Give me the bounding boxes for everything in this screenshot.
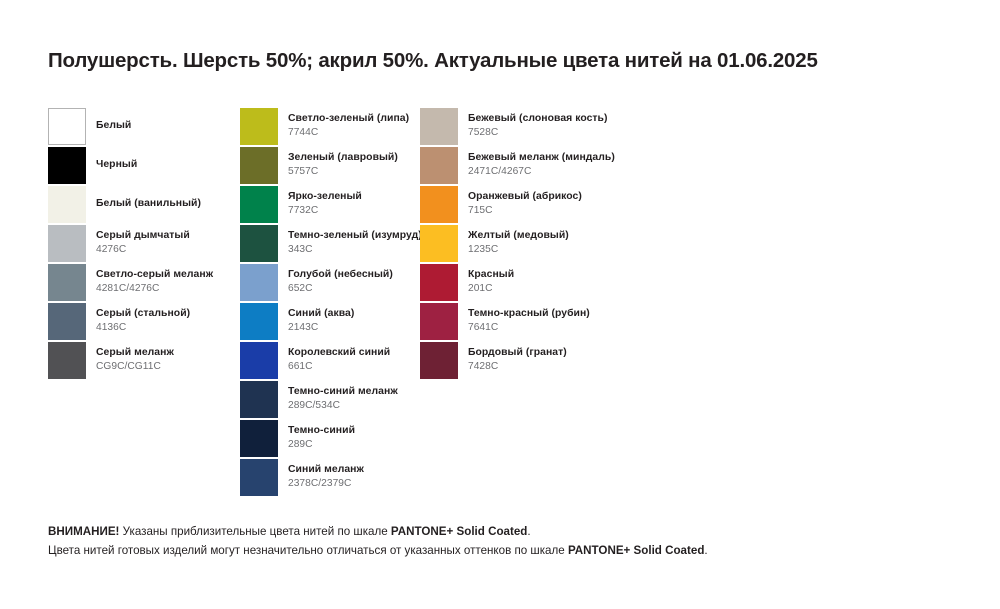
color-swatch-row: Белый (ванильный) — [48, 186, 238, 225]
color-name: Бежевый (слоновая кость) — [468, 113, 608, 126]
color-swatch-row: Оранжевый (абрикос)715C — [420, 186, 650, 225]
color-swatch-row: Темно-красный (рубин)7641C — [420, 303, 650, 342]
swatch-labels: Красный201C — [468, 264, 514, 301]
color-swatch-row: Красный201C — [420, 264, 650, 303]
swatch-labels: Зеленый (лавровый)5757C — [288, 147, 398, 184]
pantone-code: 7528C — [468, 127, 608, 139]
footer-line-2-text: Цвета нитей готовых изделий могут незнач… — [48, 544, 568, 557]
swatch-labels: Серый (стальной)4136C — [96, 303, 190, 340]
swatch-column-neutrals: БелыйЧерныйБелый (ванильный)Серый дымчат… — [48, 108, 238, 381]
color-swatch — [420, 186, 458, 223]
footer-brand-1: PANTONE+ Solid Coated — [391, 525, 527, 538]
swatch-labels: Ярко-зеленый7732C — [288, 186, 362, 223]
swatch-column-warm: Бежевый (слоновая кость)7528CБежевый мел… — [420, 108, 650, 381]
color-swatch — [48, 342, 86, 379]
color-swatch-row: Зеленый (лавровый)5757C — [240, 147, 420, 186]
color-name: Светло-зеленый (липа) — [288, 113, 409, 126]
footer-attention-label: ВНИМАНИЕ! — [48, 525, 119, 538]
color-name: Темно-синий меланж — [288, 386, 398, 399]
pantone-code: 7428C — [468, 361, 567, 373]
color-swatch-row: Королевский синий661C — [240, 342, 420, 381]
color-swatch-row: Темно-синий меланж289C/534C — [240, 381, 420, 420]
footer-line-2: Цвета нитей готовых изделий могут незнач… — [48, 542, 948, 561]
swatch-column-greens-blues: Светло-зеленый (липа)7744CЗеленый (лавро… — [240, 108, 420, 498]
swatch-labels: Светло-серый меланж4281C/4276C — [96, 264, 213, 301]
color-name: Темно-синий — [288, 425, 355, 438]
color-swatch — [240, 264, 278, 301]
swatch-labels: Оранжевый (абрикос)715C — [468, 186, 582, 223]
page-title: Полушерсть. Шерсть 50%; акрил 50%. Актуа… — [48, 49, 818, 73]
pantone-code: 7744C — [288, 127, 409, 139]
color-name: Темно-зеленый (изумруд) — [288, 230, 422, 243]
color-name: Светло-серый меланж — [96, 269, 213, 282]
color-swatch — [240, 342, 278, 379]
footer-line-1-text: Указаны приблизительные цвета нитей по ш… — [119, 525, 390, 538]
color-swatch-row: Темно-синий289C — [240, 420, 420, 459]
pantone-code: 4276C — [96, 244, 190, 256]
color-name: Серый (стальной) — [96, 308, 190, 321]
swatch-labels: Темно-красный (рубин)7641C — [468, 303, 590, 340]
swatch-labels: Бежевый меланж (миндаль)2471C/4267C — [468, 147, 615, 184]
swatch-labels: Темно-зеленый (изумруд)343C — [288, 225, 422, 262]
pantone-code: 4281C/4276C — [96, 283, 213, 295]
color-name: Ярко-зеленый — [288, 191, 362, 204]
color-swatch-row: Темно-зеленый (изумруд)343C — [240, 225, 420, 264]
color-swatch — [240, 381, 278, 418]
color-swatch — [240, 420, 278, 457]
color-name: Королевский синий — [288, 347, 390, 360]
color-swatch — [420, 225, 458, 262]
color-name: Бордовый (гранат) — [468, 347, 567, 360]
swatch-labels: Желтый (медовый)1235C — [468, 225, 569, 262]
color-name: Оранжевый (абрикос) — [468, 191, 582, 204]
color-swatch — [240, 147, 278, 184]
color-swatch — [420, 303, 458, 340]
pantone-code: 7641C — [468, 322, 590, 334]
color-name: Синий (аква) — [288, 308, 354, 321]
color-swatch-row: Серый дымчатый4276C — [48, 225, 238, 264]
color-name: Синий меланж — [288, 464, 364, 477]
color-swatch — [48, 108, 86, 145]
pantone-code: 652C — [288, 283, 393, 295]
swatch-labels: Голубой (небесный)652C — [288, 264, 393, 301]
color-swatch-row: Серый (стальной)4136C — [48, 303, 238, 342]
pantone-code: 2143C — [288, 322, 354, 334]
footer-line-1: ВНИМАНИЕ! Указаны приблизительные цвета … — [48, 523, 948, 542]
color-chart-page: Полушерсть. Шерсть 50%; акрил 50%. Актуа… — [0, 0, 1000, 609]
swatch-labels: Белый — [96, 108, 131, 145]
pantone-code: CG9C/CG11C — [96, 361, 174, 373]
swatch-labels: Светло-зеленый (липа)7744C — [288, 108, 409, 145]
swatch-labels: Белый (ванильный) — [96, 186, 201, 223]
color-name: Желтый (медовый) — [468, 230, 569, 243]
swatch-labels: Синий меланж2378C/2379C — [288, 459, 364, 496]
color-name: Белый — [96, 120, 131, 133]
color-swatch — [48, 186, 86, 223]
color-name: Серый дымчатый — [96, 230, 190, 243]
swatch-labels: Черный — [96, 147, 137, 184]
pantone-code: 5757C — [288, 166, 398, 178]
pantone-code: 2471C/4267C — [468, 166, 615, 178]
color-swatch-row: Светло-зеленый (липа)7744C — [240, 108, 420, 147]
color-swatch — [240, 225, 278, 262]
color-name: Бежевый меланж (миндаль) — [468, 152, 615, 165]
color-swatch — [240, 108, 278, 145]
pantone-code: 201C — [468, 283, 514, 295]
footer-line-2-end: . — [704, 544, 707, 557]
color-swatch — [48, 303, 86, 340]
color-swatch — [48, 225, 86, 262]
pantone-code: 661C — [288, 361, 390, 373]
color-name: Белый (ванильный) — [96, 198, 201, 211]
color-name: Серый меланж — [96, 347, 174, 360]
color-swatch-row: Ярко-зеленый7732C — [240, 186, 420, 225]
color-swatch-row: Голубой (небесный)652C — [240, 264, 420, 303]
pantone-code: 715C — [468, 205, 582, 217]
color-name: Зеленый (лавровый) — [288, 152, 398, 165]
swatch-labels: Темно-синий289C — [288, 420, 355, 457]
color-swatch-row: Желтый (медовый)1235C — [420, 225, 650, 264]
pantone-code: 289C — [288, 439, 355, 451]
color-swatch-row: Черный — [48, 147, 238, 186]
color-swatch-row: Серый меланжCG9C/CG11C — [48, 342, 238, 381]
pantone-code: 289C/534C — [288, 400, 398, 412]
color-name: Голубой (небесный) — [288, 269, 393, 282]
color-swatch — [420, 147, 458, 184]
color-swatch — [420, 264, 458, 301]
color-swatch — [420, 342, 458, 379]
color-swatch-row: Бежевый меланж (миндаль)2471C/4267C — [420, 147, 650, 186]
pantone-code: 4136C — [96, 322, 190, 334]
swatch-labels: Серый меланжCG9C/CG11C — [96, 342, 174, 379]
color-swatch — [240, 303, 278, 340]
color-swatch-row: Синий (аква)2143C — [240, 303, 420, 342]
color-name: Красный — [468, 269, 514, 282]
color-swatch-row: Светло-серый меланж4281C/4276C — [48, 264, 238, 303]
footer-line-1-end: . — [527, 525, 530, 538]
color-name: Темно-красный (рубин) — [468, 308, 590, 321]
pantone-code: 2378C/2379C — [288, 478, 364, 490]
pantone-code: 343C — [288, 244, 422, 256]
footer-note: ВНИМАНИЕ! Указаны приблизительные цвета … — [48, 523, 948, 561]
color-swatch-row: Бежевый (слоновая кость)7528C — [420, 108, 650, 147]
color-swatch-row: Синий меланж2378C/2379C — [240, 459, 420, 498]
color-swatch — [48, 264, 86, 301]
color-swatch — [240, 459, 278, 496]
color-swatch — [420, 108, 458, 145]
swatch-labels: Бежевый (слоновая кость)7528C — [468, 108, 608, 145]
swatch-labels: Темно-синий меланж289C/534C — [288, 381, 398, 418]
swatch-labels: Серый дымчатый4276C — [96, 225, 190, 262]
color-name: Черный — [96, 159, 137, 172]
color-swatch — [48, 147, 86, 184]
swatch-labels: Королевский синий661C — [288, 342, 390, 379]
swatch-labels: Бордовый (гранат)7428C — [468, 342, 567, 379]
color-swatch — [240, 186, 278, 223]
swatch-labels: Синий (аква)2143C — [288, 303, 354, 340]
pantone-code: 1235C — [468, 244, 569, 256]
color-swatch-row: Бордовый (гранат)7428C — [420, 342, 650, 381]
color-swatch-row: Белый — [48, 108, 238, 147]
footer-brand-2: PANTONE+ Solid Coated — [568, 544, 704, 557]
pantone-code: 7732C — [288, 205, 362, 217]
